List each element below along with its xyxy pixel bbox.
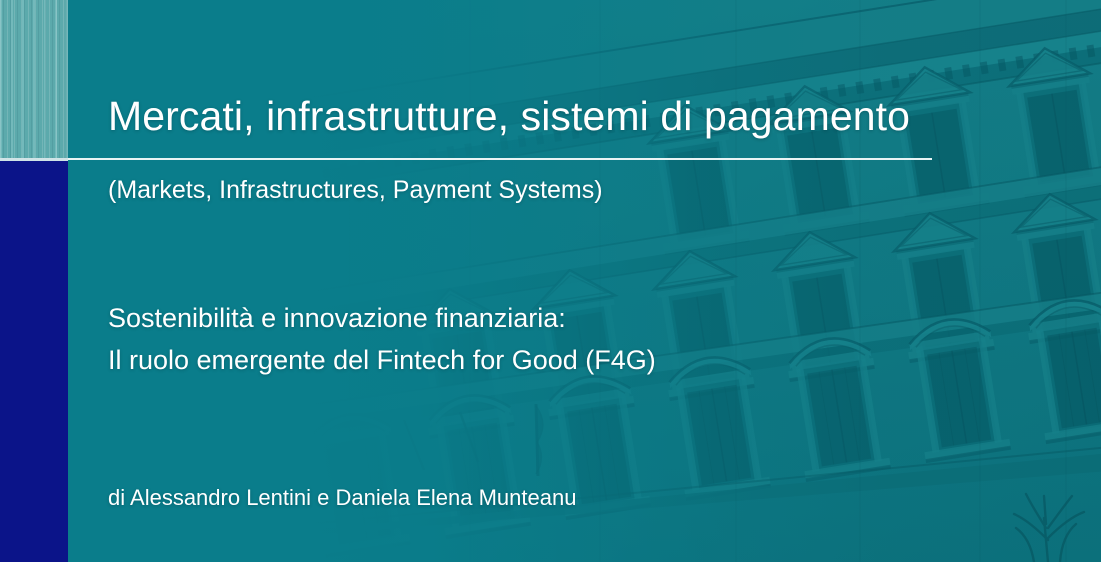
authors-line: di Alessandro Lentini e Daniela Elena Mu… xyxy=(108,485,576,511)
document-title-line-1: Sostenibilità e innovazione finanziaria: xyxy=(108,303,566,334)
publication-cover: Mercati, infrastrutture, sistemi di paga… xyxy=(0,0,1101,562)
series-subtitle: (Markets, Infrastructures, Payment Syste… xyxy=(108,176,603,205)
document-title-line-2: Il ruolo emergente del Fintech for Good … xyxy=(108,345,656,376)
cover-text: Mercati, infrastrutture, sistemi di paga… xyxy=(0,0,1101,562)
series-title: Mercati, infrastrutture, sistemi di paga… xyxy=(108,93,910,140)
